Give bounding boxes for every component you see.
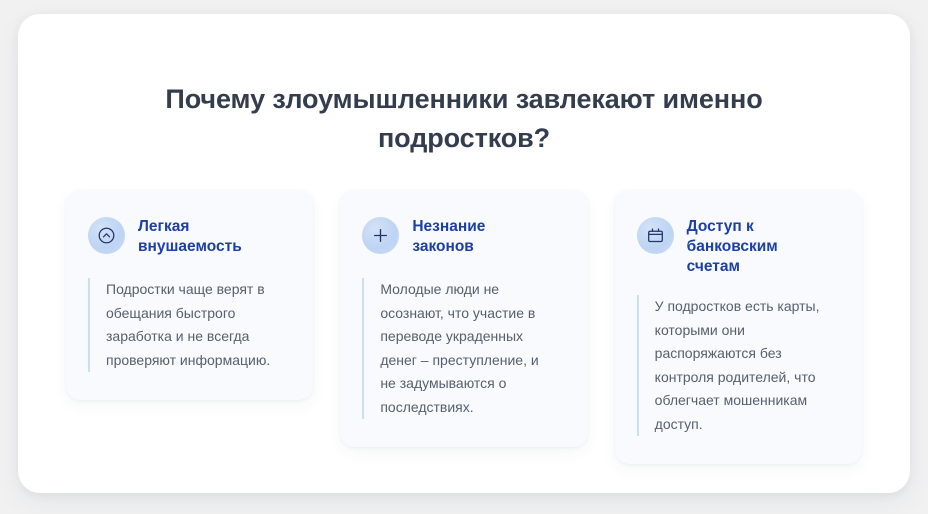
card-header: Легкая внушаемость — [88, 216, 291, 260]
briefcase-icon — [646, 226, 665, 245]
card-title: Доступ к банковским счетам — [687, 216, 819, 277]
card-header: Доступ к банковским счетам — [637, 216, 840, 277]
reason-card[interactable]: Незнание законов Молодые люди не осознаю… — [340, 190, 587, 447]
card-title: Легкая внушаемость — [138, 216, 288, 257]
plus-icon — [371, 226, 390, 245]
reason-card[interactable]: Легкая внушаемость Подростки чаще верят … — [66, 190, 313, 400]
reason-card-list: Легкая внушаемость Подростки чаще верят … — [66, 190, 862, 464]
card-title: Незнание законов — [412, 216, 542, 257]
card-icon-badge — [362, 217, 399, 254]
card-icon-badge — [637, 217, 674, 254]
page-title: Почему злоумышленники завлекают именно п… — [18, 80, 910, 158]
chevron-up-in-circle-icon — [97, 226, 116, 245]
content-panel: Почему злоумышленники завлекают именно п… — [18, 14, 910, 493]
slide-root: Почему злоумышленники завлекают именно п… — [0, 0, 928, 514]
card-header: Незнание законов — [362, 216, 565, 260]
reason-card[interactable]: Доступ к банковским счетам У подростков … — [615, 190, 862, 464]
card-description: Подростки чаще верят в обещания быстрого… — [88, 278, 280, 372]
card-description: Молодые люди не осознают, что участие в … — [362, 278, 554, 419]
card-icon-badge — [88, 217, 125, 254]
card-description: У подростков есть карты, которыми они ра… — [637, 295, 833, 436]
